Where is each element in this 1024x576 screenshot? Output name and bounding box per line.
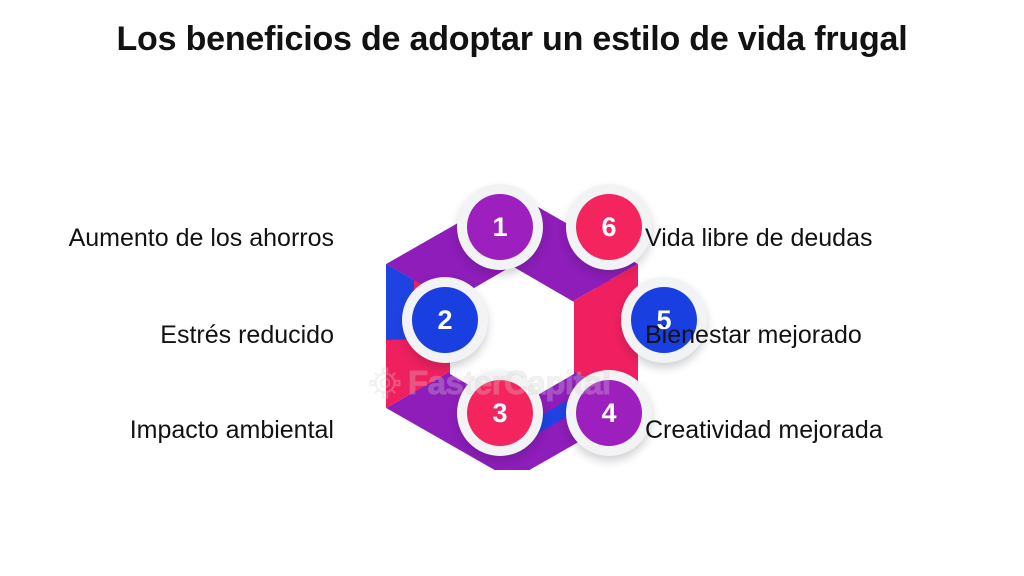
node-label-3: Impacto ambiental	[130, 415, 334, 445]
hex-node-4[interactable]: 4	[566, 370, 652, 456]
hexagon-cycle-diagram: 1 2 3 4 5 6	[352, 170, 672, 470]
hex-node-4-number: 4	[576, 380, 642, 446]
hex-node-2[interactable]: 2	[402, 277, 488, 363]
hex-node-3[interactable]: 3	[457, 370, 543, 456]
node-label-1: Aumento de los ahorros	[69, 223, 334, 253]
infographic-canvas: Los beneficios de adoptar un estilo de v…	[0, 0, 1024, 576]
node-label-6: Vida libre de deudas	[645, 223, 873, 253]
page-title: Los beneficios de adoptar un estilo de v…	[0, 18, 1024, 61]
hex-node-1[interactable]: 1	[457, 184, 543, 270]
node-label-5: Bienestar mejorado	[645, 320, 862, 350]
hex-node-3-number: 3	[467, 380, 533, 446]
node-label-2: Estrés reducido	[160, 320, 334, 350]
hex-node-1-number: 1	[467, 194, 533, 260]
hex-node-6-number: 6	[576, 194, 642, 260]
hex-node-6[interactable]: 6	[566, 184, 652, 270]
hex-node-2-number: 2	[412, 287, 478, 353]
node-label-4: Creatividad mejorada	[645, 415, 883, 445]
